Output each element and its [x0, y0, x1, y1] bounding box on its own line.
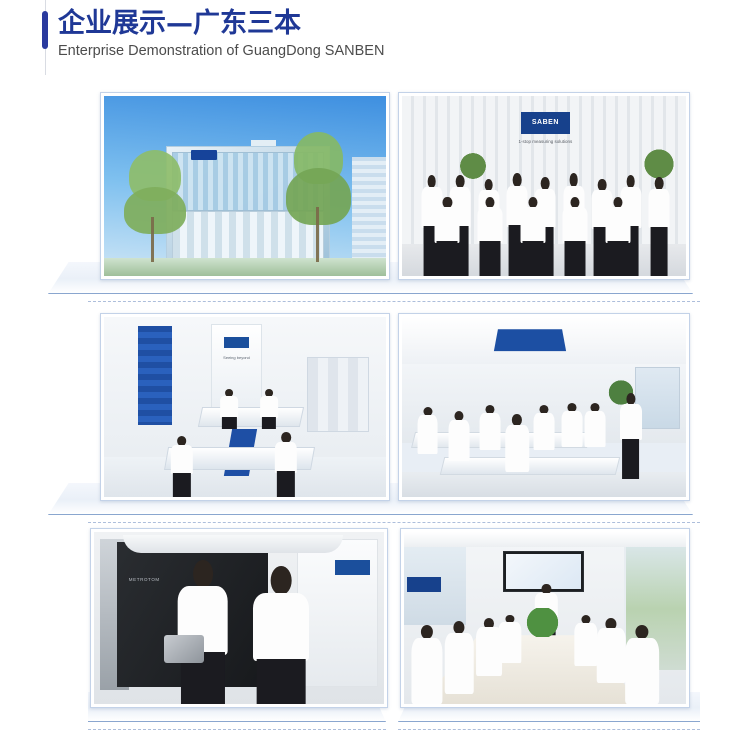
photo-office-building[interactable] [100, 92, 390, 280]
header-text-block: 企业展示—广东三本 Enterprise Demonstration of Gu… [58, 8, 384, 60]
gallery-row-2: Seeing beyond [0, 313, 750, 528]
photo-zeiss-showroom-image: Seeing beyond [104, 317, 386, 497]
zeiss-banner-in-training-photo [494, 329, 567, 351]
gallery-row-1: SABEN 1-stop measuring solutions [0, 92, 750, 307]
saben-tagline-in-photo: 1-stop measuring solutions [507, 139, 584, 144]
zeiss-logo-in-metrotom-photo [335, 560, 370, 575]
row-1-shelf-dashed-line [88, 301, 700, 302]
metrotom-label-in-photo: METROTOM [129, 577, 160, 582]
photo-metrotom-demo-image: METROTOM [94, 532, 384, 704]
zeiss-banner-in-boardroom-photo [407, 577, 441, 592]
header-accent-bar [42, 11, 48, 49]
photo-training-room-image [402, 317, 686, 497]
photo-metrotom-demo[interactable]: METROTOM [90, 528, 388, 708]
saben-logo-in-photo: SABEN [521, 112, 569, 134]
photo-boardroom-meeting[interactable] [400, 528, 690, 708]
page-title-en: Enterprise Demonstration of GuangDong SA… [58, 43, 384, 60]
gallery-row-3: METROTOM [0, 528, 750, 743]
row-3-right-shelf-dashed-line [398, 729, 700, 730]
enterprise-demonstration-page: 企业展示—广东三本 Enterprise Demonstration of Gu… [0, 0, 750, 750]
photo-zeiss-showroom[interactable]: Seeing beyond [100, 313, 390, 501]
photo-team-group[interactable]: SABEN 1-stop measuring solutions [398, 92, 690, 280]
row-2-shelf-dashed-line [88, 522, 700, 523]
photo-training-room[interactable] [398, 313, 690, 501]
row-3-left-shelf-dashed-line [88, 729, 386, 730]
photo-team-group-image: SABEN 1-stop measuring solutions [402, 96, 686, 276]
page-title-cn: 企业展示—广东三本 [58, 8, 384, 40]
zeiss-tagline-in-showroom-photo: Seeing beyond [211, 355, 262, 360]
photo-boardroom-meeting-image [404, 532, 686, 704]
photo-office-building-image [104, 96, 386, 276]
zeiss-logo-in-showroom-photo [224, 337, 249, 348]
page-header: 企业展示—广东三本 Enterprise Demonstration of Gu… [0, 0, 750, 92]
